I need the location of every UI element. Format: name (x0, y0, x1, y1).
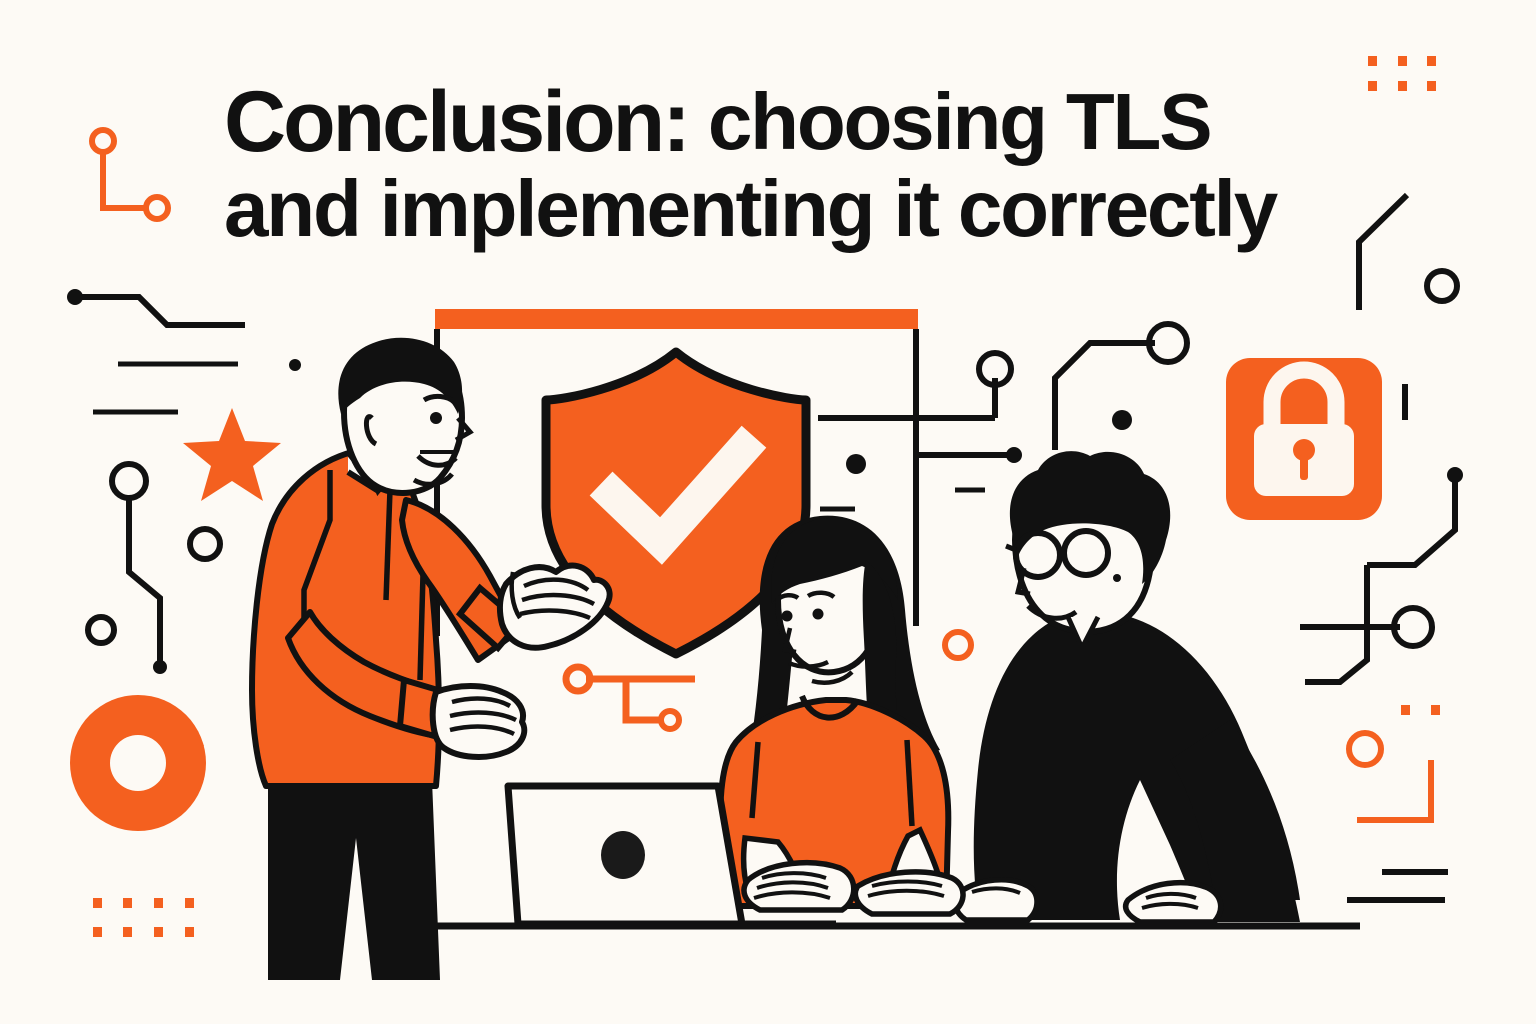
settings-gear-icon (70, 695, 206, 831)
board-accent-bar (435, 309, 918, 329)
dot-node-black (289, 359, 301, 371)
padlock-badge (1226, 358, 1382, 520)
woman-eye-left (782, 611, 793, 622)
presenter-eye (430, 412, 442, 424)
dot-node-black (1112, 410, 1132, 430)
observer-ear-detail (1113, 574, 1121, 582)
laptop-logo-dot (601, 831, 645, 879)
scene-artboard: .ink { stroke:#111111; fill:none; stroke… (0, 0, 1536, 1024)
illustration-canvas: .ink { stroke:#111111; fill:none; stroke… (0, 0, 1536, 1024)
woman-eye-right (813, 609, 824, 620)
observer-hand-left (955, 880, 1037, 920)
dot-node-black (1006, 447, 1022, 463)
padlock-keyhole-stem-icon (1300, 454, 1308, 480)
dot-accent-orange (1431, 705, 1440, 715)
woman-hand-right (855, 872, 963, 914)
dot-accent-orange (1401, 705, 1410, 715)
dot-node-black (846, 454, 866, 474)
dot-node-black (153, 660, 167, 674)
